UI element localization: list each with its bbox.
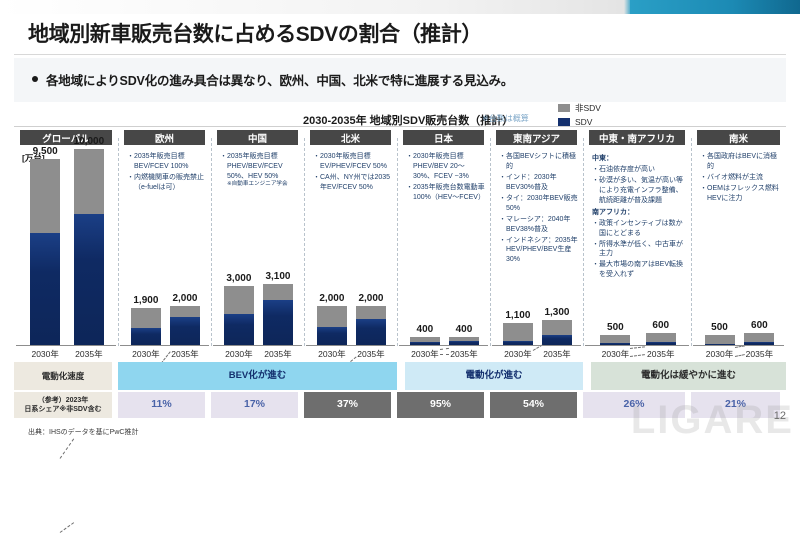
- bar-segment-nonsdv: [356, 306, 386, 319]
- chart-baseline: [399, 345, 488, 346]
- bar-value-label: 10,000: [74, 136, 105, 147]
- stacked-bar: 1,100: [503, 323, 533, 345]
- bar-segment-nonsdv: [744, 333, 774, 342]
- bar-segment-nonsdv: [705, 335, 735, 343]
- region-column-5: 日本・2030年販売目標PHEV/BEV 20〜30%、FCEV ~3%・203…: [397, 128, 490, 360]
- bar-segment-nonsdv: [646, 333, 676, 341]
- stacked-bar: 400: [449, 337, 479, 345]
- bar-value-label: 3,000: [226, 273, 251, 284]
- region-plot: 400400: [397, 134, 490, 346]
- bar-value-label: 2,000: [358, 293, 383, 304]
- bar-segment-nonsdv: [263, 284, 293, 300]
- chart-baseline: [120, 345, 209, 346]
- stacked-bar: 1,300: [542, 320, 572, 345]
- stacked-bar: 1,900: [131, 308, 161, 345]
- bar-value-label: 500: [607, 322, 624, 333]
- bar-value-label: 1,100: [505, 310, 530, 321]
- page-title: 地域別新車販売台数に占めるSDVの割合（推計）: [28, 18, 482, 48]
- x-axis-labels: 2030年2035年: [583, 347, 691, 360]
- stacked-bar: 9,500: [30, 159, 60, 345]
- x-axis-tick-label: 2035年: [647, 348, 674, 360]
- matrix-gap: [397, 362, 405, 390]
- x-axis-tick-label: 2030年: [225, 348, 252, 360]
- region-column-8: 南米・各国政府はBEVに消極的・バイオ燃料が主流・OEMはフレックス燃料HEVに…: [691, 128, 786, 360]
- bar-segment-sdv: [170, 317, 200, 345]
- slide-root: 地域別新車販売台数に占めるSDVの割合（推計） 各地域によりSDV化の進み具合は…: [0, 0, 800, 448]
- x-axis-tick-label: 2035年: [450, 348, 477, 360]
- bar-segment-sdv: [224, 314, 254, 345]
- x-axis-tick-label: 2035年: [264, 348, 291, 360]
- region-plot: 3,0003,100: [211, 134, 304, 346]
- region-column-1: グローバル[万台]9,50010,0002030年2035年: [14, 128, 118, 360]
- page-number: 12: [774, 410, 786, 422]
- chart-note: ※台数は概算: [482, 113, 529, 124]
- stacked-bar: 3,000: [224, 286, 254, 345]
- electrification-speed-label: 電動化速度: [14, 362, 112, 390]
- bar-segment-nonsdv: [224, 286, 254, 314]
- region-column-3: 中国・2035年販売目標PHEV/BEV/FCEV 50%、HEV 50%※自動…: [211, 128, 304, 360]
- bar-segment-sdv: [263, 300, 293, 345]
- bar-segment-nonsdv: [317, 306, 347, 327]
- watermark: LIGARE: [631, 398, 794, 443]
- region-plot: 1,9002,000: [118, 134, 211, 346]
- stacked-bar: 2,000: [170, 306, 200, 345]
- top-accent-bar-right: [630, 0, 800, 14]
- bar-segment-nonsdv: [74, 149, 104, 214]
- lead-bullet-text: 各地域によりSDV化の進み具合は異なり、欧州、中国、北米で特に進展する見込み。: [46, 70, 513, 89]
- matrix-gap: [583, 362, 591, 390]
- x-axis-tick-label: 2030年: [504, 348, 531, 360]
- bar-value-label: 1,900: [133, 295, 158, 306]
- x-axis-labels: 2030年2035年: [304, 347, 397, 360]
- stacked-bar: 400: [410, 337, 440, 345]
- region-plot: 500600: [691, 134, 786, 346]
- trend-connector-line: [60, 522, 74, 533]
- bar-segment-nonsdv: [170, 306, 200, 317]
- bar-segment-sdv: [542, 335, 572, 345]
- x-axis-labels: 2030年2035年: [490, 347, 583, 360]
- speed-band-bev: BEV化が進む: [118, 362, 397, 390]
- chart-baseline: [213, 345, 302, 346]
- chart-baseline: [16, 345, 116, 346]
- x-axis-tick-label: 2030年: [411, 348, 438, 360]
- bar-segment-nonsdv: [30, 159, 60, 233]
- region-plot: 9,50010,000: [14, 134, 118, 346]
- stacked-bar: 2,000: [317, 306, 347, 345]
- legend-item-nonsdv: 非SDV: [558, 102, 601, 113]
- share-cell-2: 17%: [211, 392, 298, 418]
- x-axis-tick-label: 2030年: [132, 348, 159, 360]
- speed-band-slow: 電動化は緩やかに進む: [591, 362, 786, 390]
- x-axis-tick-label: 2035年: [746, 348, 773, 360]
- legend-swatch-nonsdv: [558, 104, 570, 112]
- legend-label-sdv: SDV: [575, 117, 592, 127]
- region-column-2: 欧州・2035年販売目標BEV/FCEV 100%・内燃機関車の販売禁止（e-f…: [118, 128, 211, 360]
- chart-baseline: [693, 345, 784, 346]
- x-axis-labels: 2030年2035年: [691, 347, 786, 360]
- share-cell-3: 37%: [304, 392, 391, 418]
- bar-segment-nonsdv: [131, 308, 161, 328]
- x-axis-tick-label: 2030年: [31, 348, 58, 360]
- stacked-bar: 10,000: [74, 149, 104, 345]
- x-axis-tick-label: 2035年: [543, 348, 570, 360]
- bar-segment-nonsdv: [542, 320, 572, 336]
- x-axis-tick-label: 2030年: [602, 348, 629, 360]
- region-column-7: 中東・南アフリカ中東：・石油依存度が高い・砂漠が多い、気温が高い等により充電イン…: [583, 128, 691, 360]
- region-plot: 500600: [583, 134, 691, 346]
- bar-segment-nonsdv: [600, 335, 630, 343]
- stacked-bar: 600: [744, 333, 774, 345]
- x-axis-tick-label: 2030年: [318, 348, 345, 360]
- stacked-bar: 3,100: [263, 284, 293, 345]
- speed-band-electrification: 電動化が進む: [405, 362, 583, 390]
- x-axis-tick-label: 2030年: [706, 348, 733, 360]
- bar-segment-sdv: [30, 233, 60, 345]
- bar-segment-sdv: [317, 327, 347, 345]
- bar-value-label: 600: [652, 320, 669, 331]
- region-column-4: 北米・2030年販売目標EV/PHEV/FCEV 50%・CA州、NY州では20…: [304, 128, 397, 360]
- x-axis-labels: 2030年2035年: [397, 347, 490, 360]
- bar-segment-sdv: [356, 319, 386, 345]
- trend-connector-line: [60, 438, 74, 458]
- bar-segment-sdv: [74, 214, 104, 345]
- x-axis-labels: 2030年2035年: [118, 347, 211, 360]
- stacked-bar: 2,000: [356, 306, 386, 345]
- share-cell-4: 95%: [397, 392, 484, 418]
- x-axis-tick-label: 2035年: [75, 348, 102, 360]
- bar-value-label: 9,500: [33, 146, 58, 157]
- bar-segment-nonsdv: [503, 323, 533, 340]
- x-axis-tick-label: 2035年: [171, 348, 198, 360]
- x-axis-labels: 2030年2035年: [211, 347, 304, 360]
- bar-value-label: 3,100: [265, 271, 290, 282]
- japanese-share-label: （参考）2023年日系シェア※非SDV含む: [14, 392, 112, 418]
- bar-value-label: 600: [751, 320, 768, 331]
- stacked-bar: 600: [646, 333, 676, 345]
- bullet-dot-icon: [32, 76, 38, 82]
- chart-header-divider: [14, 126, 786, 127]
- chart-baseline: [492, 345, 581, 346]
- legend-swatch-sdv: [558, 118, 570, 126]
- bar-value-label: 2,000: [319, 293, 344, 304]
- stacked-bar: 500: [705, 335, 735, 345]
- chart-baseline: [585, 345, 689, 346]
- source-note: 出典：IHSのデータを基にPwC推計: [28, 427, 138, 437]
- stacked-bar: 500: [600, 335, 630, 345]
- region-plot: 2,0002,000: [304, 134, 397, 346]
- bar-value-label: 400: [456, 324, 473, 335]
- share-cell-1: 11%: [118, 392, 205, 418]
- bar-value-label: 1,300: [544, 307, 569, 318]
- share-cell-5: 54%: [490, 392, 577, 418]
- bar-value-label: 400: [417, 324, 434, 335]
- bar-segment-sdv: [131, 328, 161, 345]
- chart-baseline: [306, 345, 395, 346]
- x-axis-tick-label: 2035年: [357, 348, 384, 360]
- electrification-speed-row: 電動化速度BEV化が進む電動化が進む電動化は緩やかに進む: [14, 362, 786, 390]
- bar-value-label: 500: [711, 322, 728, 333]
- region-column-6: 東南アジア・各国BEVシフトに積極的・インド：2030年BEV30%普及・タイ：…: [490, 128, 583, 360]
- x-axis-labels: 2030年2035年: [14, 347, 118, 360]
- legend-label-nonsdv: 非SDV: [575, 102, 601, 114]
- region-plot: 1,1001,300: [490, 134, 583, 346]
- title-divider: [14, 54, 786, 55]
- bar-value-label: 2,000: [172, 293, 197, 304]
- region-columns: グローバル[万台]9,50010,0002030年2035年欧州・2035年販売…: [14, 128, 786, 360]
